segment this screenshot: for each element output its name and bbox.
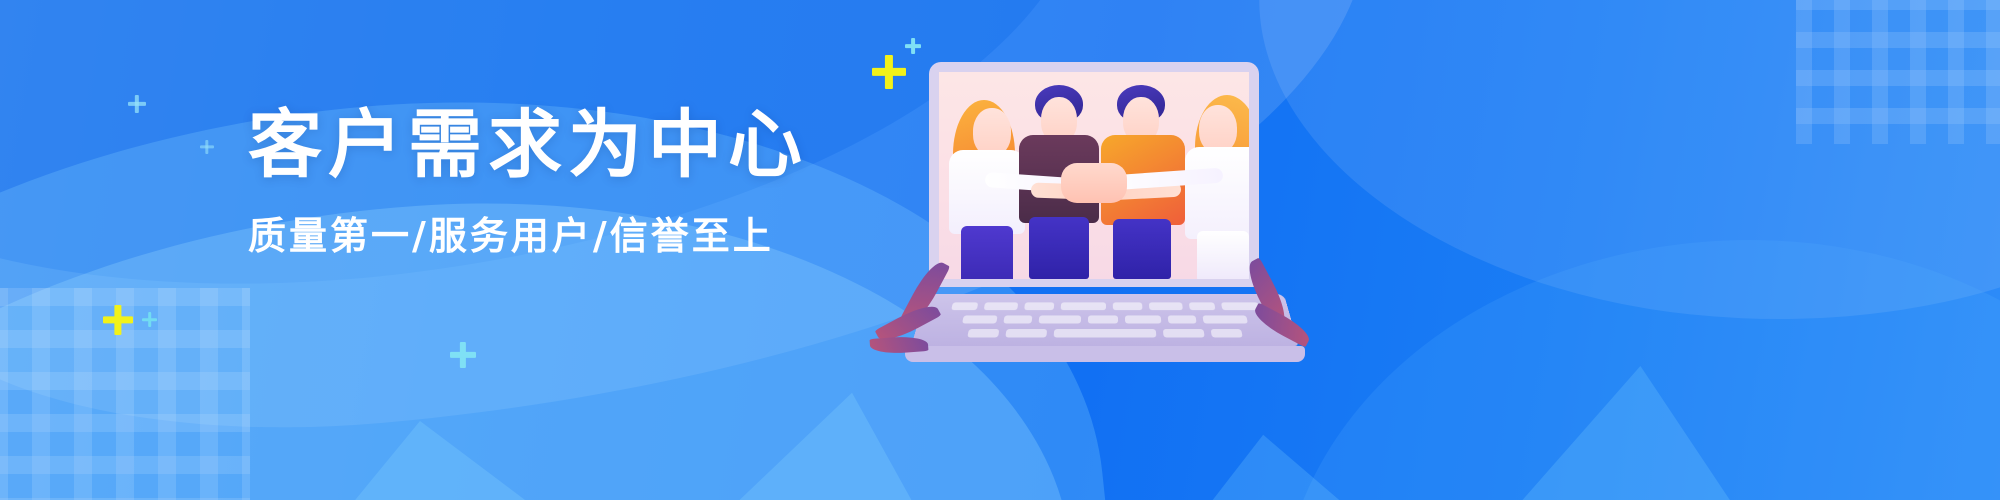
torso <box>1185 147 1249 239</box>
laptop-base <box>905 284 1305 362</box>
plus-cyan-bottom-mid-icon <box>450 342 476 368</box>
head <box>1199 105 1237 153</box>
promo-banner: 客户需求为中心 质量第一/服务用户/信誉至上 <box>0 0 2000 500</box>
plus-yellow-large-icon <box>872 55 906 89</box>
keyboard-row-2 <box>918 315 1293 323</box>
laptop-keyboard-deck <box>911 294 1298 346</box>
person-woman-right <box>1179 91 1249 279</box>
banner-headline: 客户需求为中心 <box>248 108 868 183</box>
torso <box>949 150 1025 234</box>
stacked-hands <box>1061 163 1127 203</box>
legs <box>961 226 1013 279</box>
wave-band-right-top <box>1230 0 2000 371</box>
square-grid-bottom-left-icon <box>0 288 250 500</box>
laptop-lid <box>929 62 1259 287</box>
team-hands-together-illustration <box>939 72 1249 279</box>
laptop-screen <box>939 72 1249 279</box>
plus-cyan-small-top-icon <box>905 38 921 54</box>
head <box>973 108 1011 156</box>
plus-cyan-upper-left-icon <box>128 95 146 113</box>
legs <box>1113 219 1171 279</box>
legs <box>1029 217 1089 279</box>
square-grid-top-right-icon <box>1796 0 2000 144</box>
laptop-front-lip <box>905 346 1305 362</box>
legs <box>1197 231 1249 279</box>
keyboard-row-3 <box>914 329 1296 337</box>
wave-band-right-bottom <box>1280 240 2000 500</box>
plus-cyan-bottom-left-icon <box>142 312 157 327</box>
banner-subheadline: 质量第一/服务用户/信誉至上 <box>248 205 868 260</box>
keyboard-row-1 <box>922 302 1289 310</box>
laptop-illustration <box>905 62 1305 362</box>
plus-yellow-bottom-left-icon <box>103 305 133 335</box>
banner-copy-block: 客户需求为中心 质量第一/服务用户/信誉至上 <box>248 108 868 260</box>
plus-cyan-mid-left-icon <box>200 140 214 154</box>
